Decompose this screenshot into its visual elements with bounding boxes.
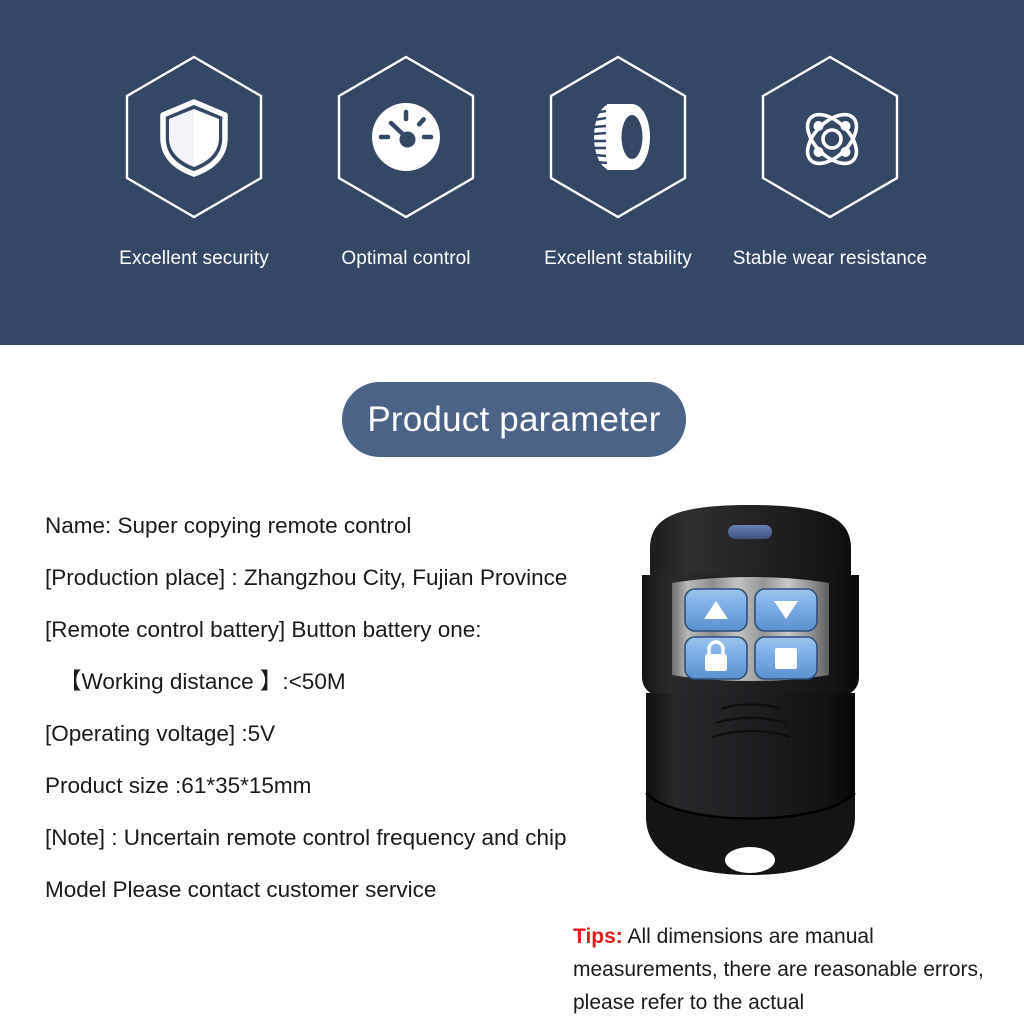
spec-line-production-place: [Production place] : Zhangzhou City, Fuj… — [45, 552, 645, 604]
hexagon-frame — [119, 52, 269, 222]
feature-list: Excellent security — [0, 0, 1024, 345]
remote-top-shell — [650, 505, 851, 575]
product-parameter-list: Name: Super copying remote control [Prod… — [45, 500, 645, 916]
feature-label: Excellent security — [119, 248, 269, 270]
feature-label: Stable wear resistance — [733, 248, 927, 270]
spec-line-note: [Note] : Uncertain remote control freque… — [45, 812, 645, 864]
button-down[interactable] — [755, 589, 817, 631]
spec-line-battery: [Remote control battery] Button battery … — [45, 604, 645, 656]
feature-item-wear-resistance: Stable wear resistance — [724, 52, 936, 270]
gauge-icon — [365, 96, 447, 178]
atom-icon — [789, 96, 871, 178]
spec-line-name: Name: Super copying remote control — [45, 500, 645, 552]
padlock-body-icon — [705, 654, 727, 671]
keyring-hole — [725, 847, 775, 873]
spec-line-product-size: Product size :61*35*15mm — [45, 760, 645, 812]
hexagon-frame — [331, 52, 481, 222]
shield-icon — [153, 96, 235, 178]
hexagon-frame — [543, 52, 693, 222]
feature-banner: Excellent security — [0, 0, 1024, 345]
product-detail-page: Excellent security — [0, 0, 1024, 1024]
feature-item-security: Excellent security — [88, 52, 300, 270]
feature-item-stability: Excellent stability — [512, 52, 724, 270]
spec-line-operating-voltage: [Operating voltage] :5V — [45, 708, 645, 760]
spec-line-model: Model Please contact customer service — [45, 864, 645, 916]
section-title-pill: Product parameter — [342, 382, 686, 457]
indicator-led — [728, 525, 772, 539]
button-lock[interactable] — [685, 637, 747, 679]
feature-label: Excellent stability — [544, 248, 692, 270]
feature-label: Optimal control — [341, 248, 470, 270]
remote-control-photo — [628, 497, 873, 890]
button-stop[interactable] — [755, 637, 817, 679]
tips-text: All dimensions are manual measurements, … — [573, 925, 984, 1014]
page-title: Product parameter — [367, 400, 660, 440]
tips-label: Tips: — [573, 925, 623, 948]
button-up[interactable] — [685, 589, 747, 631]
square-icon — [775, 648, 797, 669]
tire-icon — [577, 96, 659, 178]
feature-item-control: Optimal control — [300, 52, 512, 270]
hexagon-frame — [755, 52, 905, 222]
tips-note: Tips: All dimensions are manual measurem… — [573, 920, 993, 1019]
spec-line-working-distance: 【Working distance 】:<50M — [45, 656, 645, 708]
